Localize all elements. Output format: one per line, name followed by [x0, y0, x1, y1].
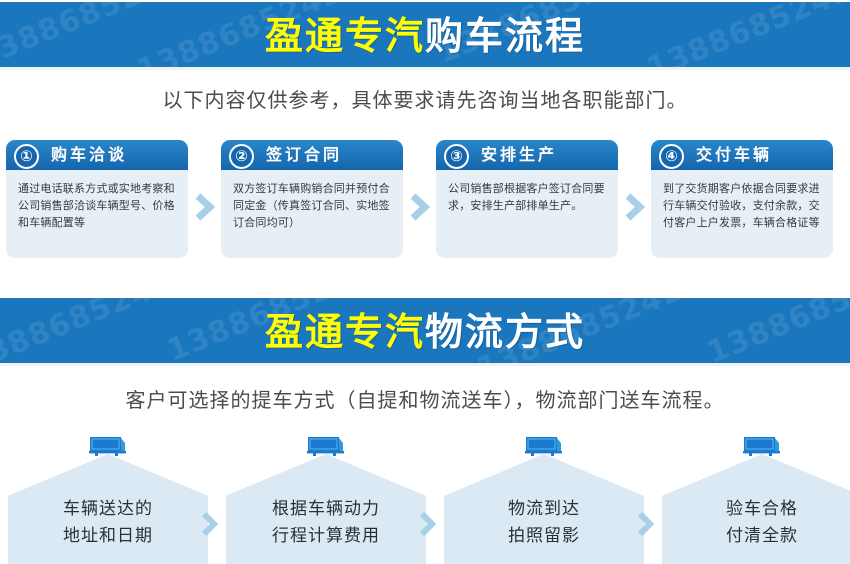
chevron-right-icon [409, 192, 431, 222]
step-title: 签订合同 [266, 140, 399, 170]
logistics-card-line1: 车辆送达的 [8, 496, 208, 523]
chevron-right-icon [418, 510, 438, 538]
step-number-badge: ① [14, 144, 39, 169]
chevron-right-icon [200, 510, 220, 538]
logistics-card-4[interactable]: 验车合格 付清全款 [662, 454, 850, 564]
step-card-1[interactable]: ① 购车洽谈 通过电话联系方式或实地考察和公司销售部洽谈车辆型号、价格和车辆配置… [6, 140, 188, 258]
purchase-banner-rest: 购车流程 [425, 14, 585, 58]
step-number-badge: ④ [659, 144, 684, 169]
step-header-4: ④ 交付车辆 [651, 140, 833, 170]
step-body: 公司销售部根据客户签订合同要求，安排生产部排单生产。 [436, 170, 618, 258]
logistics-banner: 13886852428 13886852428 13886852428 1388… [0, 298, 850, 366]
purchase-banner-title: 盈通专汽购车流程 [0, 2, 850, 70]
marketing-flow-page: 13886852428 13886852428 13886852428 1388… [0, 0, 850, 564]
logistics-card-line2: 拍照留影 [444, 523, 644, 550]
logistics-card-text: 物流到达 拍照留影 [444, 496, 644, 550]
step-number-badge: ② [229, 144, 254, 169]
logistics-card-line2: 行程计算费用 [226, 523, 426, 550]
logistics-card-line1: 根据车辆动力 [226, 496, 426, 523]
chevron-right-icon [636, 510, 656, 538]
purchase-banner-brand: 盈通专汽 [265, 14, 425, 58]
logistics-banner-brand: 盈通专汽 [265, 310, 425, 354]
step-header-3: ③ 安排生产 [436, 140, 618, 170]
purchase-steps-row: ① 购车洽谈 通过电话联系方式或实地考察和公司销售部洽谈车辆型号、价格和车辆配置… [0, 140, 850, 260]
logistics-subtitle: 客户可选择的提车方式（自提和物流送车），物流部门送车流程。 [0, 384, 850, 413]
chevron-right-icon [624, 192, 646, 222]
step-card-3[interactable]: ③ 安排生产 公司销售部根据客户签订合同要求，安排生产部排单生产。 [436, 140, 618, 258]
logistics-card-3[interactable]: 物流到达 拍照留影 [444, 454, 644, 564]
truck-icon [523, 434, 565, 459]
step-header-1: ① 购车洽谈 [6, 140, 188, 170]
logistics-card-line1: 物流到达 [444, 496, 644, 523]
step-body: 到了交货期客户依据合同要求进行车辆交付验收，支付余款，交付客户上户发票，车辆合格… [651, 170, 833, 258]
logistics-card-1[interactable]: 车辆送达的 地址和日期 [8, 454, 208, 564]
logistics-banner-title: 盈通专汽物流方式 [0, 298, 850, 366]
logistics-card-line2: 地址和日期 [8, 523, 208, 550]
logistics-card-line1: 验车合格 [662, 496, 850, 523]
step-card-2[interactable]: ② 签订合同 双方签订车辆购销合同并预付合同定金（传真签订合同、实地签订合同均可… [221, 140, 403, 258]
step-title: 交付车辆 [696, 140, 829, 170]
step-card-4[interactable]: ④ 交付车辆 到了交货期客户依据合同要求进行车辆交付验收，支付余款，交付客户上户… [651, 140, 833, 258]
step-body: 通过电话联系方式或实地考察和公司销售部洽谈车辆型号、价格和车辆配置等 [6, 170, 188, 258]
logistics-card-text: 根据车辆动力 行程计算费用 [226, 496, 426, 550]
logistics-card-line2: 付清全款 [662, 523, 850, 550]
purchase-subtitle: 以下内容仅供参考，具体要求请先咨询当地各职能部门。 [0, 84, 850, 113]
chevron-right-icon [194, 192, 216, 222]
logistics-banner-rest: 物流方式 [425, 310, 585, 354]
logistics-steps-row: 车辆送达的 地址和日期 根据车辆动力 行程计算费用 [0, 432, 850, 564]
step-number-badge: ③ [444, 144, 469, 169]
step-title: 购车洽谈 [51, 140, 184, 170]
logistics-card-text: 车辆送达的 地址和日期 [8, 496, 208, 550]
truck-icon [305, 434, 347, 459]
step-header-2: ② 签订合同 [221, 140, 403, 170]
purchase-banner: 13886852428 13886852428 13886852428 1388… [0, 2, 850, 70]
step-body: 双方签订车辆购销合同并预付合同定金（传真签订合同、实地签订合同均可） [221, 170, 403, 258]
logistics-card-2[interactable]: 根据车辆动力 行程计算费用 [226, 454, 426, 564]
truck-icon [741, 434, 783, 459]
step-title: 安排生产 [481, 140, 614, 170]
logistics-card-text: 验车合格 付清全款 [662, 496, 850, 550]
truck-icon [87, 434, 129, 459]
